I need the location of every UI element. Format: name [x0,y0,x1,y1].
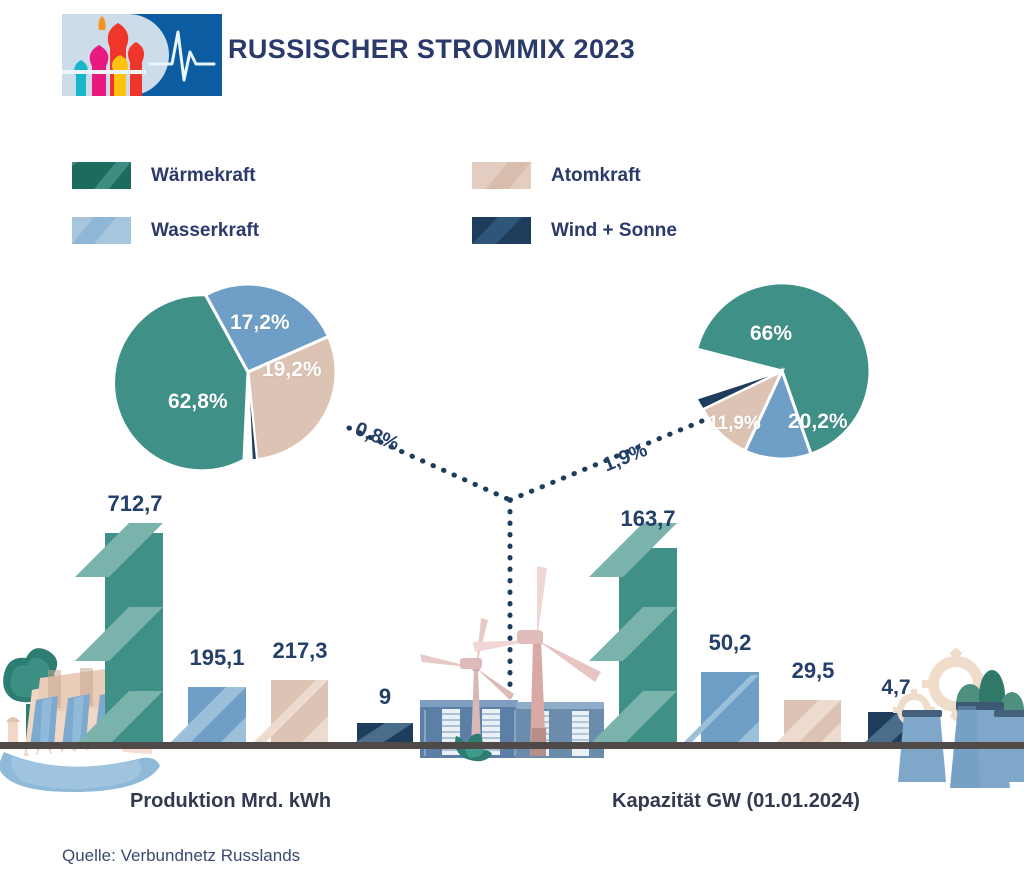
legend-swatch-wasserkraft [72,217,131,244]
legend-swatch-atomkraft [472,162,531,189]
legend-item-warmekraft: Wärmekraft [72,148,472,203]
group-label-capacity: Kapazität GW (01.01.2024) [612,790,860,813]
legend-item-wind-sonne: Wind + Sonne [472,203,677,258]
pie-label-warmekraft: 66% [750,322,792,346]
pie-label-atomkraft: 19,2% [262,358,322,382]
connector-label-right: 1,9% [600,439,651,477]
infographic-canvas: RUSSISCHER STROMMIX 2023 Wärmekraft [0,0,1024,893]
st-basils-cathedral-pulse-logo-icon [62,14,222,96]
legend-item-wasserkraft: Wasserkraft [72,203,472,258]
bar-capacity-wasserkraft [701,672,759,745]
pie-label-wasserkraft: 20,2% [788,410,848,434]
bar-production-warmekraft [105,533,163,745]
pie-label-warmekraft: 62,8% [168,390,228,414]
legend-swatch-warmekraft [72,162,131,189]
battery-container-icon [420,700,604,758]
pie-label-atomkraft: 11,9% [708,413,761,435]
cooling-towers-icon [884,648,1024,788]
bar-production-atomkraft [271,680,328,745]
legend: Wärmekraft Atomkraft [72,148,772,258]
pie-label-wasserkraft: 17,2% [230,311,290,335]
bar-value-production-atomkraft: 217,3 [250,638,350,664]
legend-swatch-wind-sonne [472,217,531,244]
legend-label-wind-sonne: Wind + Sonne [551,220,677,242]
production-pie-chart: 62,8% 17,2% 19,2% [152,276,380,472]
bar-capacity-warmekraft [619,548,677,745]
legend-label-warmekraft: Wärmekraft [151,165,256,187]
legend-item-atomkraft: Atomkraft [472,148,641,203]
page-title: RUSSISCHER STROMMIX 2023 [228,34,635,65]
group-label-production: Produktion Mrd. kWh [130,790,331,813]
bar-production-wasserkraft [188,687,246,745]
bar-value-capacity-wasserkraft: 50,2 [680,630,780,656]
bar-value-production-warmekraft: 712,7 [85,491,185,517]
bar-capacity-atomkraft [784,700,841,745]
source-note: Quelle: Verbundnetz Russlands [62,846,300,866]
capacity-pie-chart: 66% 20,2% 11,9% [688,282,888,462]
legend-label-wasserkraft: Wasserkraft [151,220,259,242]
ground-line [0,742,1024,749]
legend-label-atomkraft: Atomkraft [551,165,641,187]
bar-value-capacity-warmekraft: 163,7 [598,506,698,532]
